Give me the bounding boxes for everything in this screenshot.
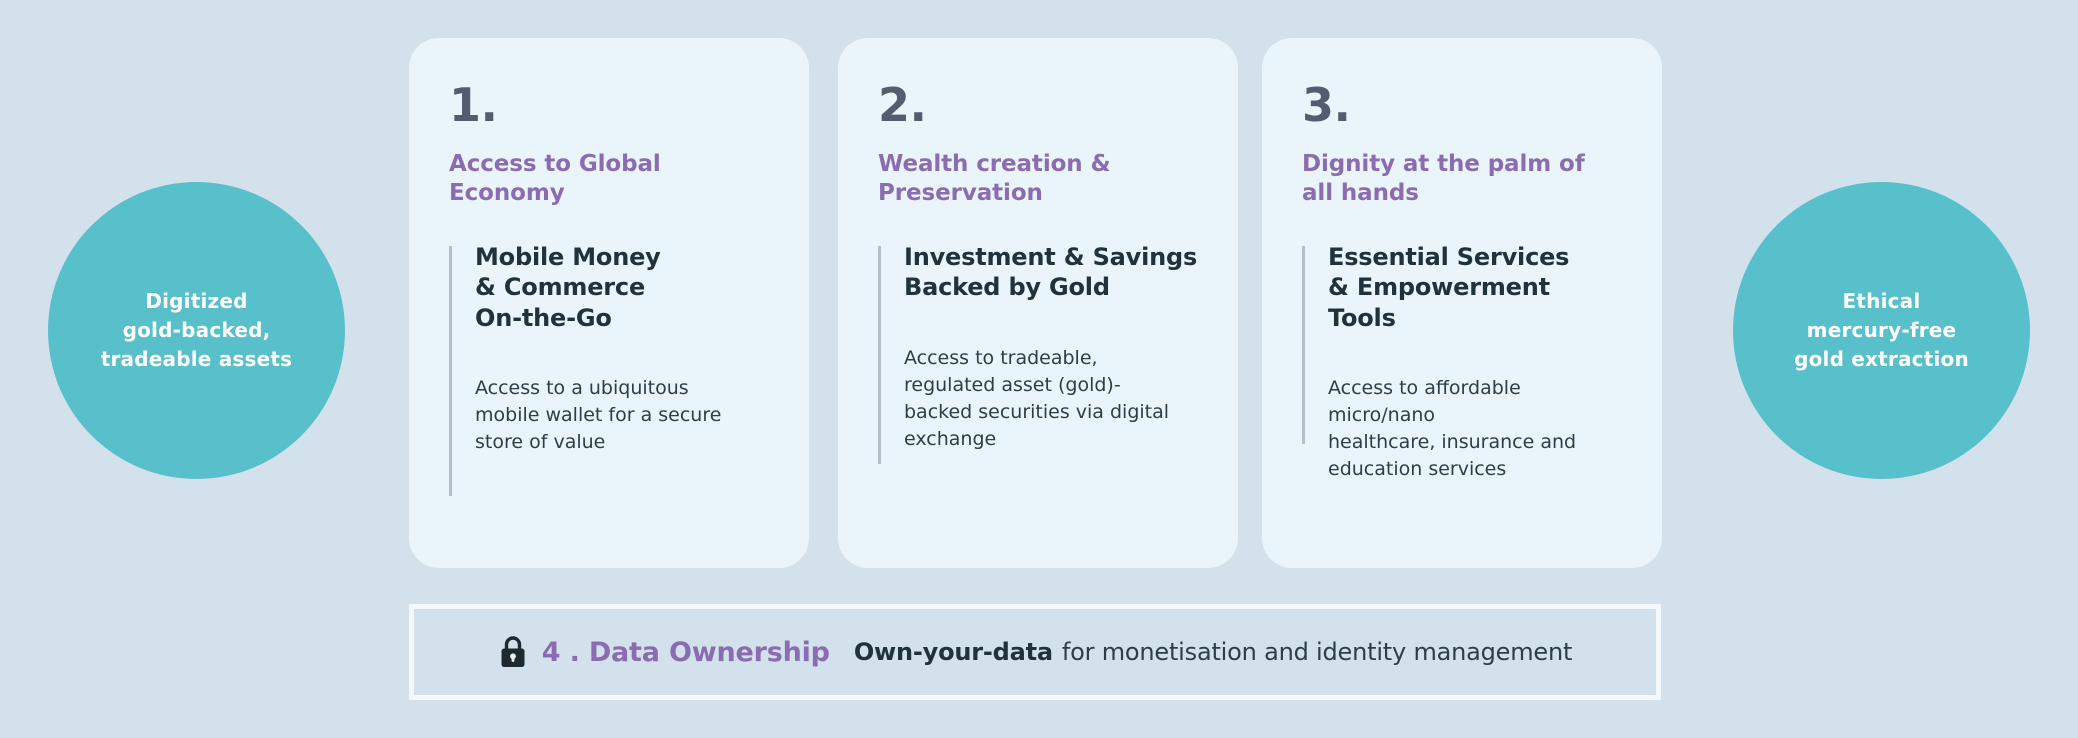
data-ownership-bar-content: 4 . Data Ownership Own-your-data for mon… (498, 635, 1572, 669)
pillar-card-3-body: Essential Services & Empowerment Tools A… (1302, 242, 1622, 483)
data-ownership-description: for monetisation and identity management (1062, 638, 1572, 666)
pillar-card-1: 1. Access to Global Economy Mobile Money… (409, 38, 809, 568)
pillar-card-3-number: 3. (1302, 82, 1622, 128)
pillar-card-2-heading: Investment & Savings Backed by Gold (904, 242, 1198, 303)
lock-icon (498, 635, 528, 669)
pillar-card-2-body: Investment & Savings Backed by Gold Acce… (878, 242, 1198, 472)
accent-bar-icon (1302, 246, 1305, 444)
pillar-card-2-text: Access to tradeable, regulated asset (go… (904, 345, 1198, 453)
digitized-gold-circle-label: Digitized gold-backed, tradeable assets (101, 287, 293, 373)
accent-bar-icon (449, 246, 452, 496)
data-ownership-emphasis: Own-your-data (854, 638, 1053, 666)
ethical-extraction-circle-label: Ethical mercury-free gold extraction (1794, 287, 1969, 373)
pillar-card-3-text: Access to affordable micro/nano healthca… (1328, 375, 1622, 483)
pillar-card-3-subtitle: Dignity at the palm of all hands (1302, 150, 1622, 208)
data-ownership-number-label: 4 . Data Ownership (542, 637, 830, 668)
pillar-card-3: 3. Dignity at the palm of all hands Esse… (1262, 38, 1662, 568)
pillar-card-1-heading: Mobile Money & Commerce On-the-Go (475, 242, 769, 333)
accent-bar-icon (878, 246, 881, 464)
data-ownership-bar: 4 . Data Ownership Own-your-data for mon… (409, 604, 1661, 700)
pillar-card-2-number: 2. (878, 82, 1198, 128)
digitized-gold-circle: Digitized gold-backed, tradeable assets (48, 182, 345, 479)
pillar-card-2: 2. Wealth creation & Preservation Invest… (838, 38, 1238, 568)
pillar-card-1-subtitle: Access to Global Economy (449, 150, 769, 208)
pillar-card-1-body: Mobile Money & Commerce On-the-Go Access… (449, 242, 769, 472)
pillar-card-2-subtitle: Wealth creation & Preservation (878, 150, 1198, 208)
pillar-card-1-text: Access to a ubiquitous mobile wallet for… (475, 375, 769, 456)
pillar-card-1-number: 1. (449, 82, 769, 128)
infographic-canvas: Digitized gold-backed, tradeable assets … (0, 0, 2078, 738)
pillar-card-3-heading: Essential Services & Empowerment Tools (1328, 242, 1622, 333)
ethical-extraction-circle: Ethical mercury-free gold extraction (1733, 182, 2030, 479)
